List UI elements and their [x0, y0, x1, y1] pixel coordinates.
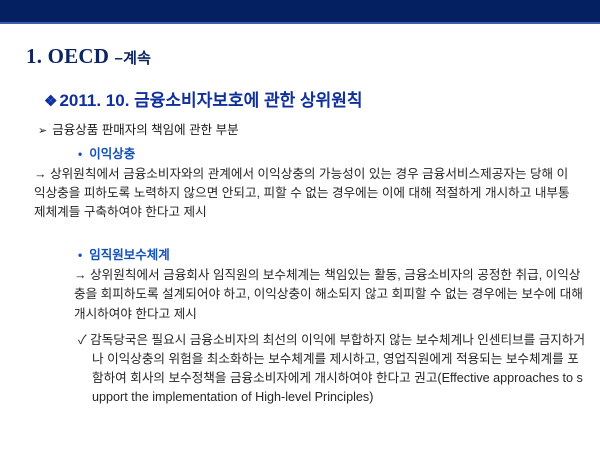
paragraph-supervisory-recommendation-text: 감독당국은 필요시 금융소비자의 최선의 이익에 부합하지 않는 보수체계나 인… [90, 333, 585, 404]
dot-bullet-icon: • [78, 147, 82, 161]
paragraph-conflict-of-interest: → 상위원칙에서 금융소비자와의 관계에서 이익상충의 가능성이 있는 경우 금… [34, 165, 578, 222]
subtitle-heading: ❖ 2011. 10. 금융소비자보호에 관한 상위원칙 [44, 86, 363, 111]
page-title-number: 1. [26, 44, 42, 68]
top-decoration-bar [0, 0, 600, 22]
diamond-bullet-icon: ❖ [44, 92, 57, 110]
list-item-bullet-remuneration: •임직원보수체계 [78, 244, 600, 263]
list-item-level1: ➢금융상품 판매자의 책임에 관한 부분 [38, 122, 600, 139]
bullet-label-conflict-of-interest: 이익상충 [89, 147, 135, 161]
top-accent-line [0, 22, 600, 24]
arrow-bullet-icon: ➢ [38, 125, 47, 137]
bullet-label-remuneration: 임직원보수체계 [89, 248, 170, 262]
page-title: 1. OECD –계속 [26, 44, 151, 69]
slide-canvas: 1. OECD –계속 ❖ 2011. 10. 금융소비자보호에 관한 상위원칙… [0, 0, 600, 450]
slide-body: ➢금융상품 판매자의 책임에 관한 부분 •이익상충 → 상위원칙에서 금융소비… [0, 122, 600, 407]
subtitle-text: 2011. 10. 금융소비자보호에 관한 상위원칙 [59, 86, 362, 111]
paragraph-remuneration: → 상위원칙에서 금융회사 임직원의 보수체계는 책임있는 활동, 금융소비자의… [74, 266, 588, 323]
list-item-level1-label: 금융상품 판매자의 책임에 관한 부분 [52, 123, 238, 137]
check-bullet-icon: ✓ [78, 333, 87, 347]
list-item-bullet-conflict-of-interest: •이익상충 [78, 143, 600, 162]
paragraph-supervisory-recommendation: ✓ 감독당국은 필요시 금융소비자의 최선의 이익에 부합하지 않는 보수체계나… [78, 331, 588, 408]
dot-bullet-icon: • [78, 248, 82, 262]
page-title-main: OECD [48, 44, 109, 68]
page-title-suffix: –계속 [115, 50, 152, 67]
